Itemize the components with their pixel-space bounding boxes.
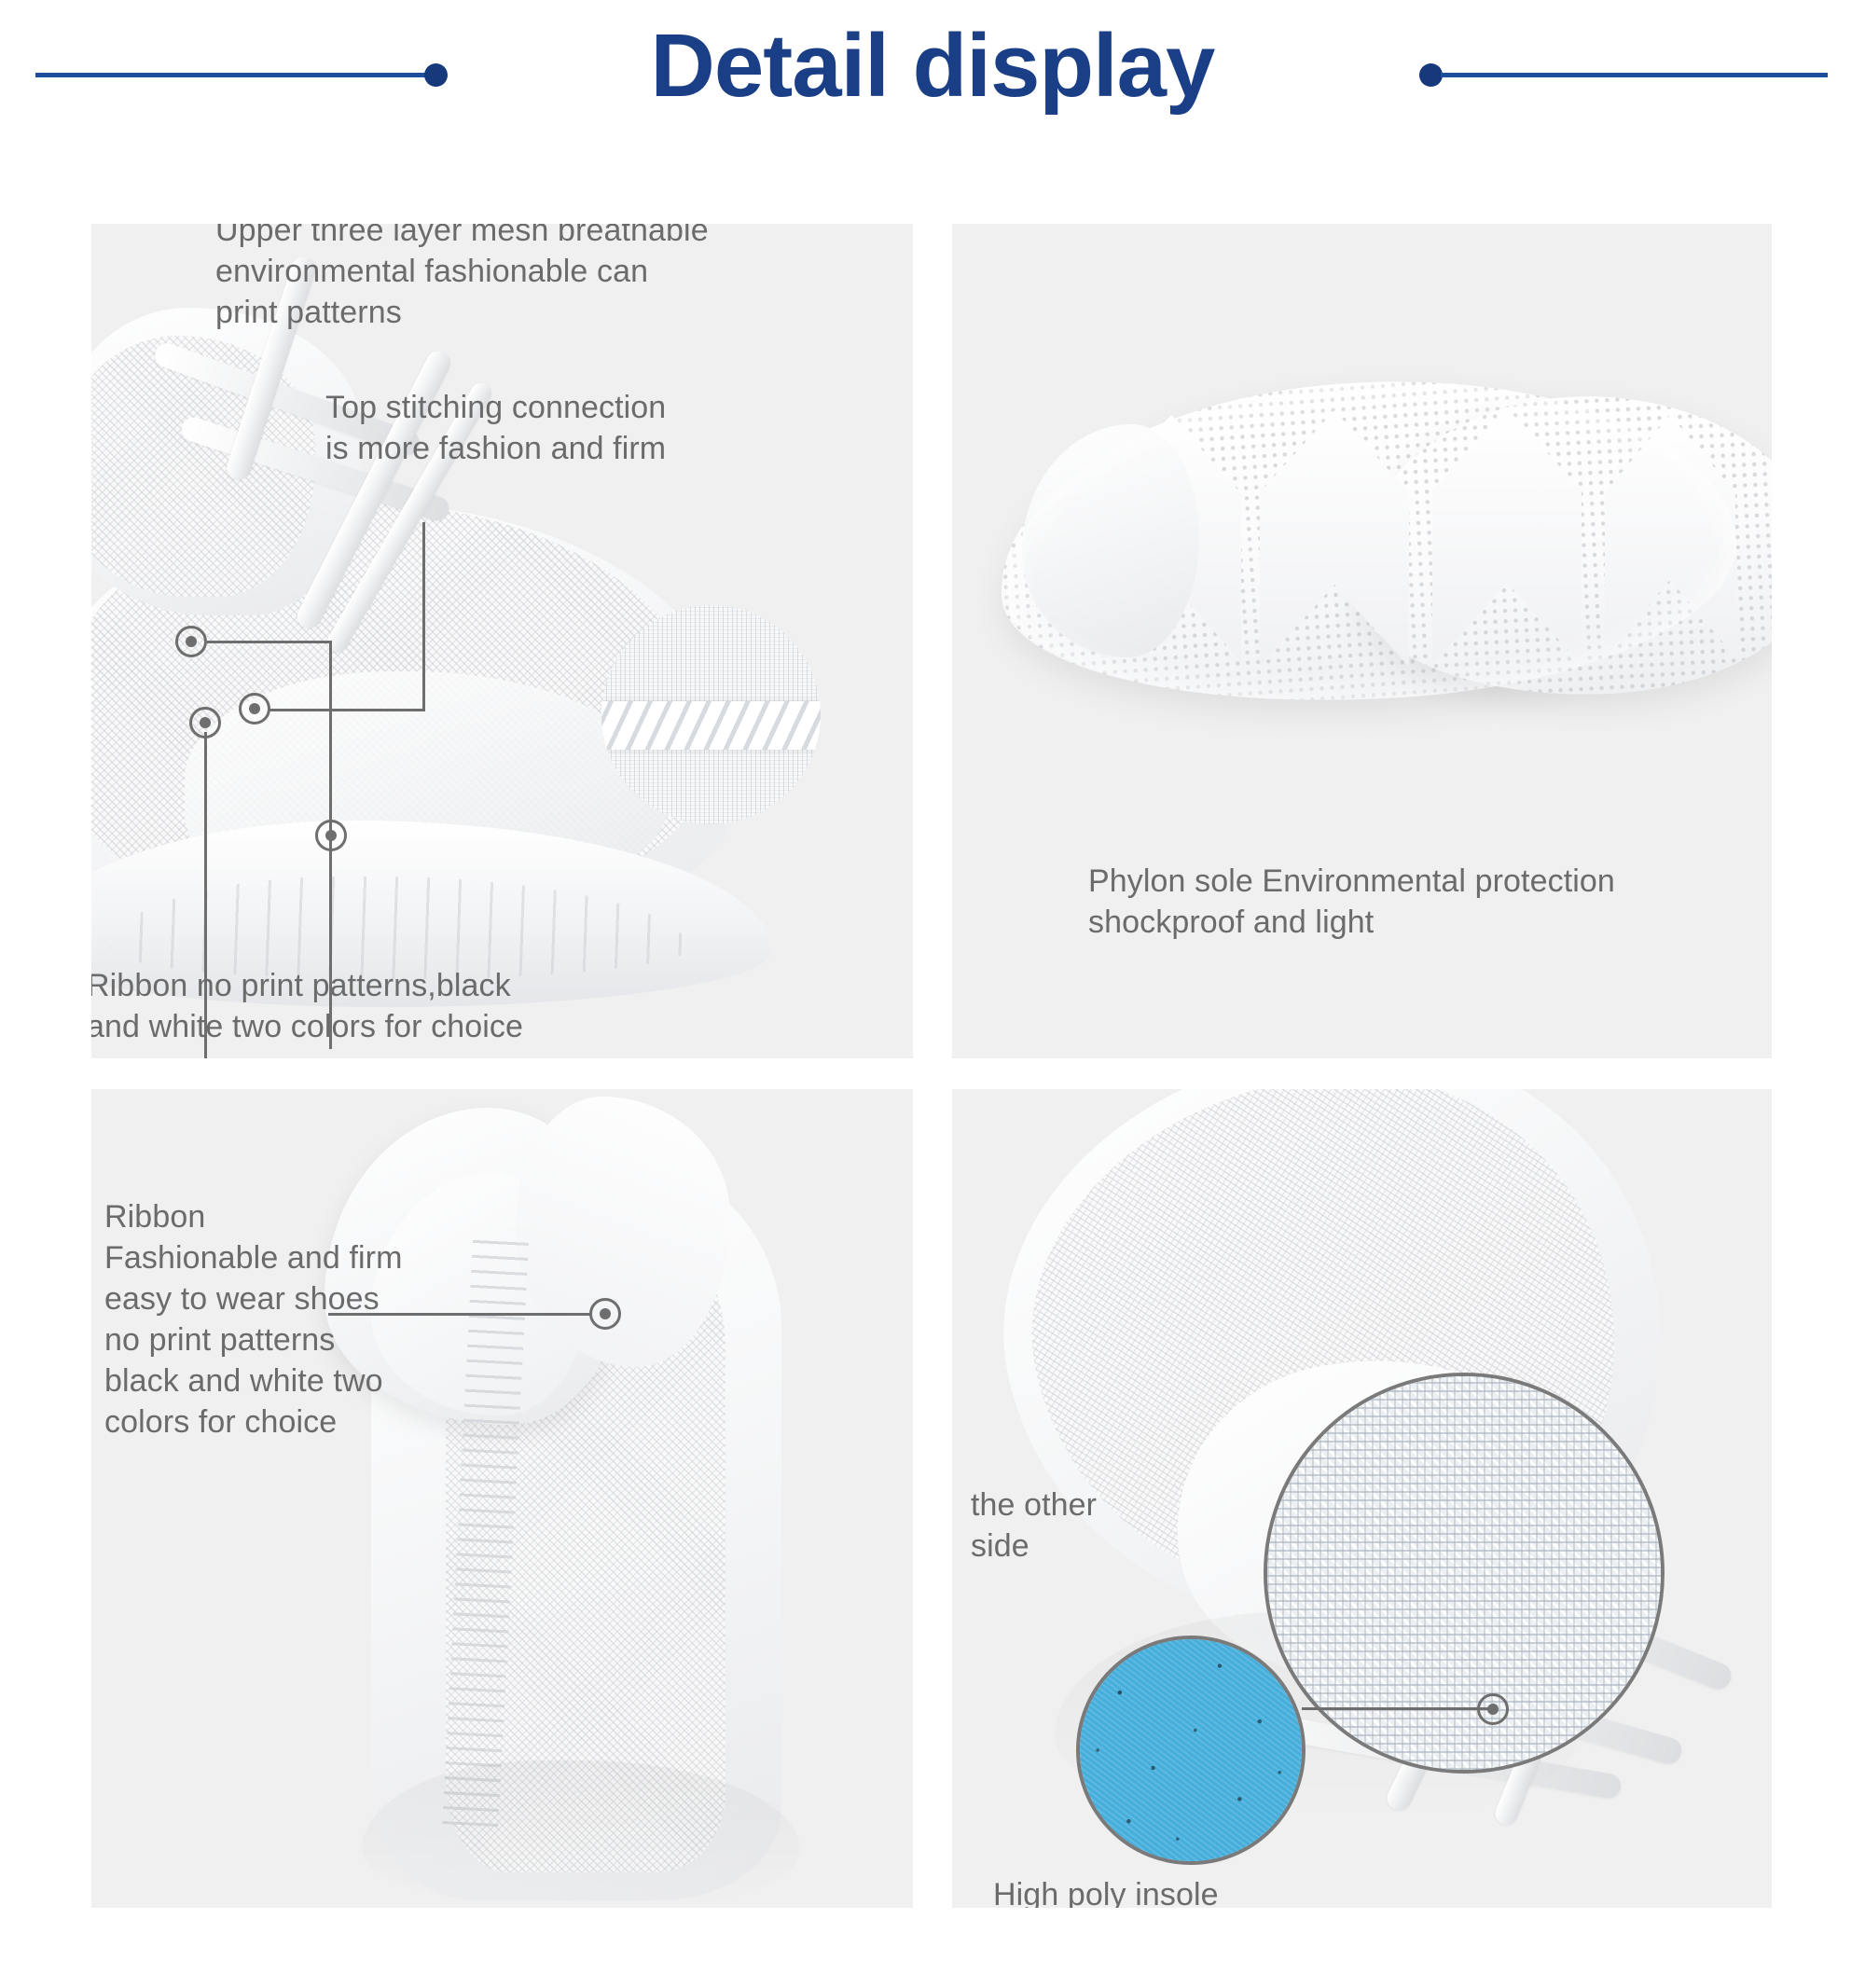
upper-mesh-caption: Upper three layer mesh breathable enviro… bbox=[215, 224, 831, 333]
leader-line-top-stitching bbox=[269, 709, 424, 711]
panel-upper-mesh: Upper three layer mesh breathable enviro… bbox=[91, 224, 913, 1058]
marker-insole[interactable] bbox=[1477, 1693, 1509, 1725]
panel-heel-ribbon: Ribbon Fashionable and firm easy to wear… bbox=[91, 1089, 913, 1908]
decorative-line-right-icon bbox=[1441, 73, 1828, 77]
marker-ribbon-lower[interactable] bbox=[315, 820, 347, 851]
marker-heel-ribbon[interactable] bbox=[589, 1298, 621, 1330]
marker-top-stitching[interactable] bbox=[239, 693, 270, 725]
knit-texture-fill bbox=[1267, 1376, 1661, 1770]
heel-ribbon-caption: Ribbon Fashionable and firm easy to wear… bbox=[104, 1196, 505, 1443]
marker-upper-mesh[interactable] bbox=[175, 626, 207, 657]
blue-foam-insole-zoom bbox=[1076, 1636, 1305, 1865]
panel-high-poly-insole: the other side High poly insole Breathab… bbox=[952, 1089, 1772, 1908]
stitch-texture-fill bbox=[601, 605, 821, 824]
leader-line-top-stitching-rise bbox=[422, 522, 425, 711]
decorative-dot-right-icon bbox=[1419, 63, 1443, 87]
stitching-texture-zoom bbox=[601, 605, 821, 824]
page-header: Detail display bbox=[0, 0, 1865, 149]
leader-line-insole bbox=[1302, 1707, 1488, 1710]
page-title: Detail display bbox=[0, 6, 1865, 127]
seam-line-icon bbox=[601, 701, 821, 750]
marker-ribbon[interactable] bbox=[189, 707, 221, 739]
detail-panel-grid: Upper three layer mesh breathable enviro… bbox=[91, 224, 1772, 1908]
top-stitching-caption: Top stitching connection is more fashion… bbox=[325, 387, 773, 469]
mesh-texture-zoom bbox=[1264, 1373, 1665, 1774]
foam-texture-fill bbox=[1080, 1639, 1302, 1861]
insole-caption: High poly insole Breathable Deodorant bbox=[993, 1874, 1385, 1908]
leader-line-upper-mesh bbox=[207, 641, 332, 643]
phylon-sole-caption: Phylon sole Environmental protection sho… bbox=[1088, 861, 1772, 943]
panel-phylon-sole: Phylon sole Environmental protection sho… bbox=[952, 224, 1772, 1058]
ribbon-caption: Ribbon no print patterns,black and white… bbox=[91, 965, 646, 1047]
other-side-caption: the other side bbox=[971, 1484, 1213, 1567]
